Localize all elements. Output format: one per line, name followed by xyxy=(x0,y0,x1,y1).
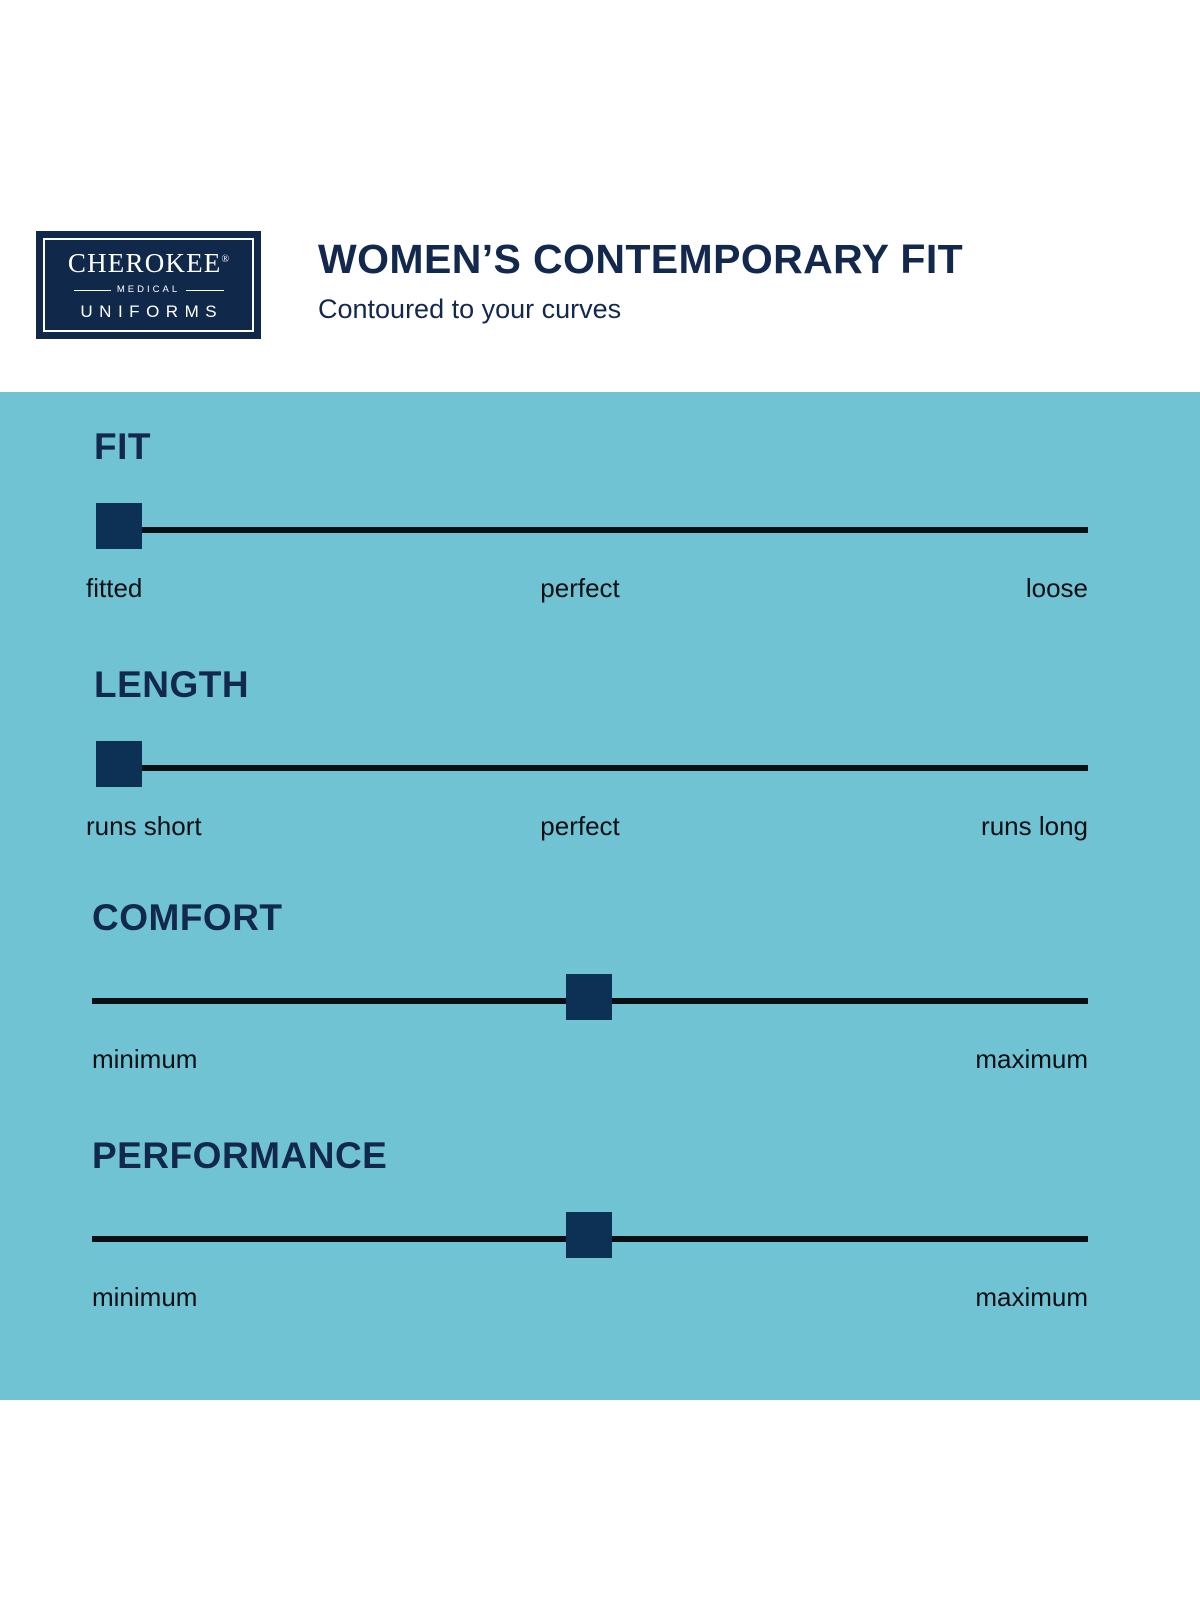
slider-track-performance[interactable] xyxy=(92,1208,1088,1268)
slider-label-end: maximum xyxy=(975,1044,1088,1075)
slider-labels-performance: minimum maximum xyxy=(92,1282,1088,1318)
page-title: WOMEN’S CONTEMPORARY FIT xyxy=(318,238,963,281)
page-subtitle: Contoured to your curves xyxy=(318,295,963,325)
cherokee-logo: CHEROKEE® MEDICAL UNIFORMS xyxy=(36,231,261,339)
slider-thumb-performance[interactable] xyxy=(566,1212,612,1258)
header: CHEROKEE® MEDICAL UNIFORMS WOMEN’S CONTE… xyxy=(0,0,1200,392)
slider-label-end: loose xyxy=(1026,573,1088,604)
logo-brand-text: CHEROKEE® xyxy=(68,250,229,277)
slider-heading-length: LENGTH xyxy=(94,666,1088,703)
fit-guide-page: CHEROKEE® MEDICAL UNIFORMS WOMEN’S CONTE… xyxy=(0,0,1200,1600)
slider-label-start: minimum xyxy=(92,1282,197,1313)
logo-rule-right-icon xyxy=(186,290,223,291)
logo-inner-frame: CHEROKEE® MEDICAL UNIFORMS xyxy=(43,238,254,332)
slider-track-line xyxy=(142,527,1088,533)
logo-medical-row: MEDICAL xyxy=(74,285,224,295)
logo-medical-text: MEDICAL xyxy=(117,285,180,295)
slider-label-mid: perfect xyxy=(540,573,620,604)
logo-rule-left-icon xyxy=(74,290,111,291)
slider-label-end: maximum xyxy=(975,1282,1088,1313)
slider-thumb-fit[interactable] xyxy=(96,503,142,549)
slider-thumb-comfort[interactable] xyxy=(566,974,612,1020)
slider-row-length: LENGTH runs short perfect runs long xyxy=(92,666,1088,847)
slider-labels-comfort: minimum maximum xyxy=(92,1044,1088,1080)
slider-track-comfort[interactable] xyxy=(92,970,1088,1030)
slider-track-length[interactable] xyxy=(92,737,1088,797)
logo-uniforms-text: UNIFORMS xyxy=(74,303,223,320)
slider-labels-fit: fitted perfect loose xyxy=(92,573,1088,609)
registered-trademark-icon: ® xyxy=(221,254,229,265)
logo-brand-word: CHEROKEE xyxy=(68,248,222,278)
slider-row-performance: PERFORMANCE minimum maximum xyxy=(92,1137,1088,1318)
slider-row-comfort: COMFORT minimum maximum xyxy=(92,899,1088,1080)
slider-label-start: fitted xyxy=(86,573,142,604)
slider-label-start: minimum xyxy=(92,1044,197,1075)
title-block: WOMEN’S CONTEMPORARY FIT Contoured to yo… xyxy=(318,238,963,325)
fit-scales-panel: FIT fitted perfect loose LENGTH xyxy=(0,392,1200,1400)
slider-label-start: runs short xyxy=(86,811,202,842)
slider-heading-performance: PERFORMANCE xyxy=(92,1137,1088,1174)
slider-label-mid: perfect xyxy=(540,811,620,842)
slider-heading-comfort: COMFORT xyxy=(92,899,1088,936)
slider-labels-length: runs short perfect runs long xyxy=(92,811,1088,847)
slider-heading-fit: FIT xyxy=(94,428,1088,465)
slider-track-fit[interactable] xyxy=(92,499,1088,559)
slider-row-fit: FIT fitted perfect loose xyxy=(92,428,1088,609)
slider-thumb-length[interactable] xyxy=(96,741,142,787)
slider-label-end: runs long xyxy=(981,811,1088,842)
slider-track-line xyxy=(142,765,1088,771)
